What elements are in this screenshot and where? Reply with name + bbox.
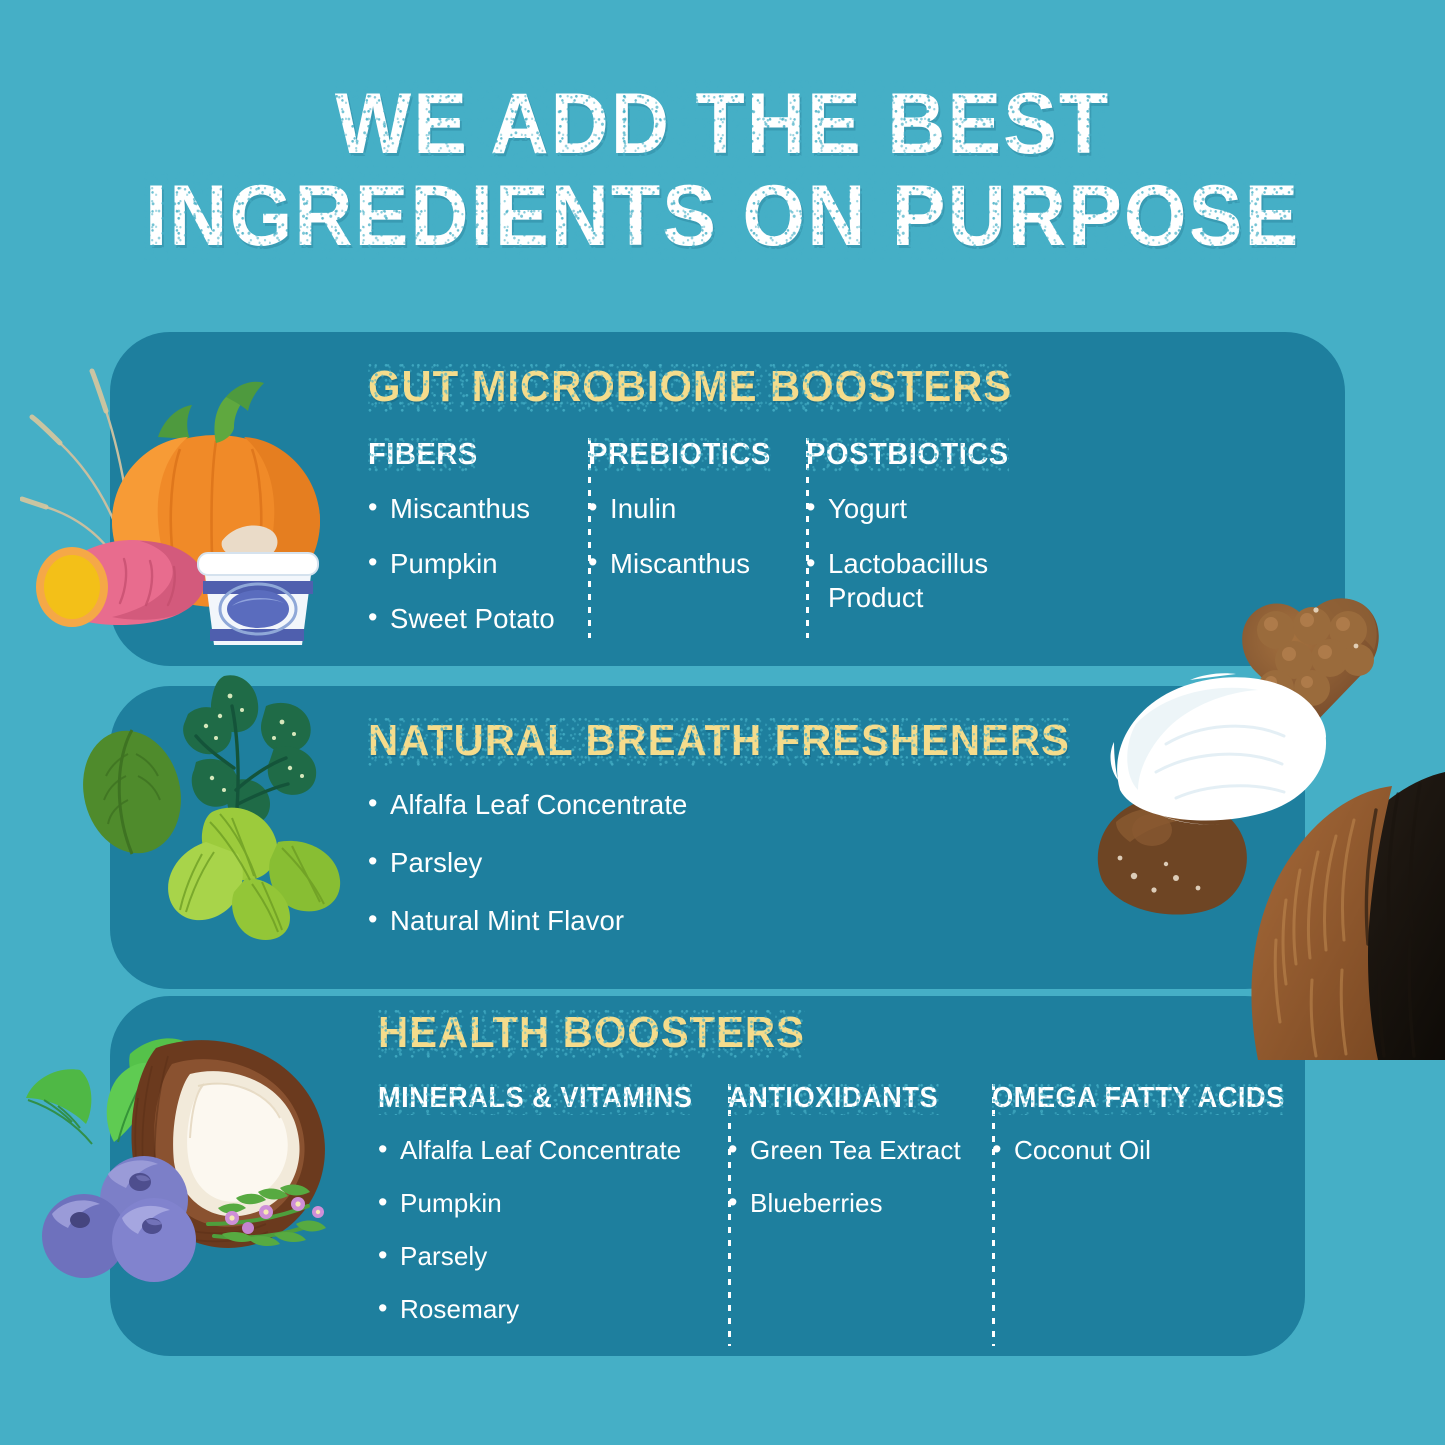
column-header-postbiotics: POSTBIOTICS [806,436,1022,472]
column-header-fibers: FIBERS [368,436,575,472]
list-item: Natural Mint Flavor [368,904,687,937]
section-title-natural-breath-fresheners: NATURAL BREATH FRESHENERS [368,716,1070,766]
list-item: Pumpkin [378,1188,728,1219]
column-postbiotics: POSTBIOTICS Yogurt Lactobacillus Product [806,436,1036,657]
list-item: Pumpkin [368,547,588,580]
health-columns: MINERALS & VITAMINS Alfalfa Leaf Concent… [378,1082,1312,1347]
list-postbiotics: Yogurt Lactobacillus Product [806,492,1036,615]
page-title: WE ADD THE BEST INGREDIENTS ON PURPOSE [0,78,1445,262]
column-fibers: FIBERS Miscanthus Pumpkin Sweet Potato [368,436,588,657]
section-title-health-boosters: HEALTH BOOSTERS [378,1008,805,1058]
list-item: Rosemary [378,1294,728,1325]
list-item: Sweet Potato [368,602,588,635]
list-item: Alfalfa Leaf Concentrate [378,1135,728,1166]
column-header-omega-fatty-acids: OMEGA FATTY ACIDS [992,1082,1293,1115]
section-title-gut-microbiome: GUT MICROBIOME BOOSTERS [368,362,1012,412]
list-fibers: Miscanthus Pumpkin Sweet Potato [368,492,588,635]
list-item: Lactobacillus Product [806,547,1036,615]
column-prebiotics: PREBIOTICS Inulin Miscanthus [588,436,806,657]
column-minerals-vitamins: MINERALS & VITAMINS Alfalfa Leaf Concent… [378,1082,728,1347]
list-omega-fatty-acids: Coconut Oil [992,1135,1312,1166]
headline-line-1: WE ADD THE BEST [43,78,1401,170]
list-item: Blueberries [728,1188,992,1219]
list-item: Miscanthus [588,547,806,580]
list-item: Parsley [368,846,687,879]
list-antioxidants: Green Tea Extract Blueberries [728,1135,992,1219]
list-item: Coconut Oil [992,1135,1312,1166]
column-header-antioxidants: ANTIOXIDANTS [728,1082,976,1115]
column-antioxidants: ANTIOXIDANTS Green Tea Extract Blueberri… [728,1082,992,1347]
list-item: Green Tea Extract [728,1135,992,1166]
list-item: Miscanthus [368,492,588,525]
list-breath-fresheners: Alfalfa Leaf Concentrate Parsley Natural… [368,788,687,962]
list-item: Parsely [378,1241,728,1272]
list-item: Inulin [588,492,806,525]
headline-line-2: INGREDIENTS ON PURPOSE [43,170,1401,262]
list-prebiotics: Inulin Miscanthus [588,492,806,580]
column-omega-fatty-acids: OMEGA FATTY ACIDS Coconut Oil [992,1082,1312,1347]
list-item: Alfalfa Leaf Concentrate [368,788,687,821]
list-item: Yogurt [806,492,1036,525]
column-header-minerals-vitamins: MINERALS & VITAMINS [378,1082,707,1115]
gut-columns: FIBERS Miscanthus Pumpkin Sweet Potato P… [368,436,1036,657]
column-header-prebiotics: PREBIOTICS [588,436,793,472]
list-minerals-vitamins: Alfalfa Leaf Concentrate Pumpkin Parsely… [378,1135,728,1325]
